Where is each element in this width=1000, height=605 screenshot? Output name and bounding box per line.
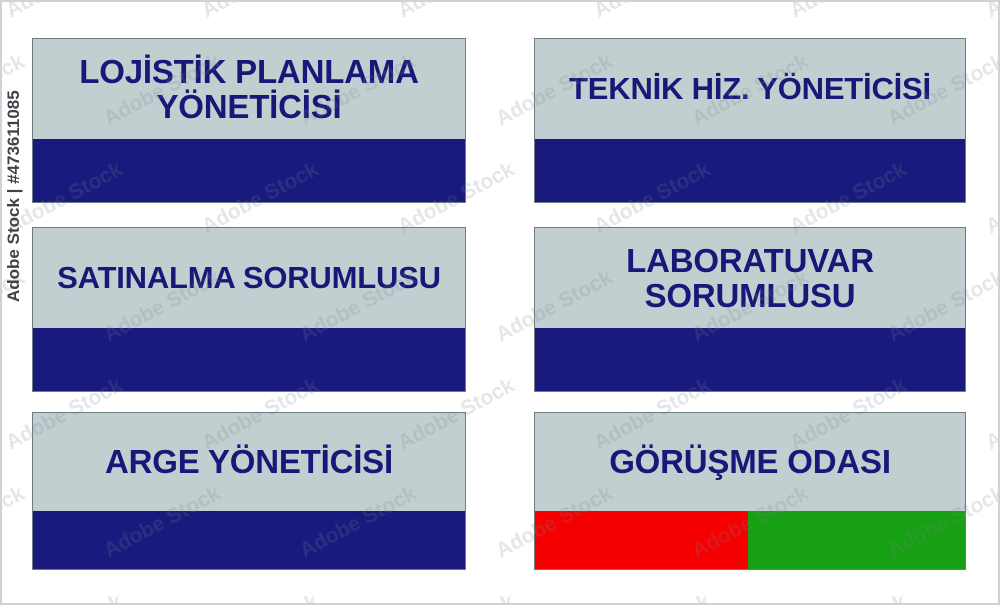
sign-sheet-page: LOJİSTİK PLANLAMA YÖNETİCİSİTEKNİK HİZ. … [0,0,1000,605]
sign-lojistik-planlama-yoneticisi: LOJİSTİK PLANLAMA YÖNETİCİSİ [32,38,466,203]
sign-colorbar-teknik-hiz-yoneticisi [535,139,965,202]
sign-caption-gorusme-odasi: GÖRÜŞME ODASI [535,413,965,511]
watermark-text: Adobe Stock [982,590,998,603]
watermark-text: Adobe Stock [786,590,911,603]
colorbar-segment-navy [33,511,465,569]
watermark-text: Adobe Stock [198,2,323,23]
watermark-text: Adobe Stock [982,2,998,23]
watermark-text: Adobe Stock [394,590,519,603]
watermark-text: Adobe Stock [198,590,323,603]
sign-satinalma-sorumlusu: SATINALMA SORUMLUSU [32,227,466,392]
watermark-text: Adobe Stock [2,2,127,23]
watermark-text: Adobe Stock [982,374,998,455]
sign-gorusme-odasi: GÖRÜŞME ODASI [534,412,966,570]
watermark-text: Adobe Stock [590,590,715,603]
sign-laboratuvar-sorumlusu: LABORATUVAR SORUMLUSU [534,227,966,392]
sign-caption-arge-yoneticisi: ARGE YÖNETİCİSİ [33,413,465,511]
sign-colorbar-lojistik-planlama-yoneticisi [33,139,465,202]
watermark-text: Adobe Stock [590,2,715,23]
colorbar-segment-navy [33,328,465,391]
colorbar-segment-occupied-red [535,511,748,569]
watermark-text: Adobe Stock [2,590,127,603]
sign-teknik-hiz-yoneticisi: TEKNİK HİZ. YÖNETİCİSİ [534,38,966,203]
sign-colorbar-laboratuvar-sorumlusu [535,328,965,391]
sign-arge-yoneticisi: ARGE YÖNETİCİSİ [32,412,466,570]
watermark-text: Adobe Stock [786,2,911,23]
sign-caption-laboratuvar-sorumlusu: LABORATUVAR SORUMLUSU [535,228,965,328]
watermark-text: Adobe Stock [2,482,29,563]
watermark-text: Adobe Stock [394,2,519,23]
sign-colorbar-satinalma-sorumlusu [33,328,465,391]
colorbar-segment-navy [33,139,465,202]
colorbar-segment-vacant-green [748,511,965,569]
sign-caption-teknik-hiz-yoneticisi: TEKNİK HİZ. YÖNETİCİSİ [535,39,965,139]
sign-grid: LOJİSTİK PLANLAMA YÖNETİCİSİTEKNİK HİZ. … [32,38,966,570]
colorbar-segment-navy [535,139,965,202]
colorbar-segment-navy [535,328,965,391]
sign-caption-lojistik-planlama-yoneticisi: LOJİSTİK PLANLAMA YÖNETİCİSİ [33,39,465,139]
sign-colorbar-gorusme-odasi [535,511,965,569]
sign-colorbar-arge-yoneticisi [33,511,465,569]
watermark-text: Adobe Stock [982,158,998,239]
sign-caption-satinalma-sorumlusu: SATINALMA SORUMLUSU [33,228,465,328]
stock-id-watermark: Adobe Stock | #473611085 [4,90,24,302]
